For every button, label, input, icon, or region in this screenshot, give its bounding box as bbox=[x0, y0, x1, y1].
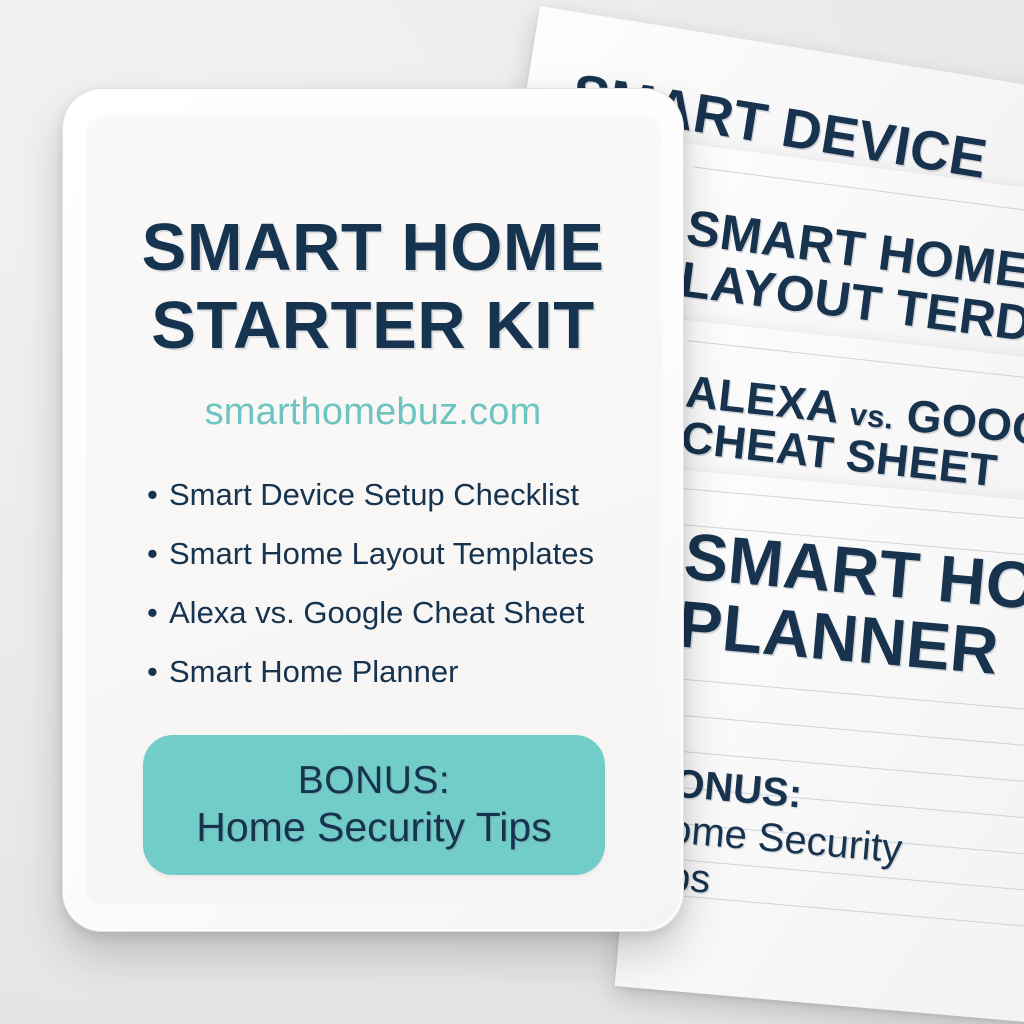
feature-label: Smart Home Layout Templates bbox=[169, 536, 594, 572]
list-item: • Smart Home Planner bbox=[147, 654, 594, 713]
promo-graphic-scene: SMART DEVICE P CHECKLIST SMART HOME LAYO… bbox=[0, 0, 1024, 1024]
tablet-device: SMART HOME STARTER KIT smarthomebuz.com … bbox=[62, 88, 684, 932]
bonus-badge-label: BONUS: bbox=[298, 759, 451, 804]
feature-label: Smart Home Planner bbox=[169, 654, 458, 690]
bonus-badge-text: Home Security Tips bbox=[196, 804, 551, 851]
page-title: SMART HOME STARTER KIT bbox=[85, 209, 661, 366]
list-item: • Alexa vs. Google Cheat Sheet bbox=[147, 595, 594, 654]
feature-list: • Smart Device Setup Checklist • Smart H… bbox=[147, 477, 594, 713]
bullet-icon: • bbox=[147, 656, 169, 687]
bullet-icon: • bbox=[147, 538, 169, 569]
title-line-1: SMART HOME bbox=[85, 209, 661, 287]
list-item: • Smart Home Layout Templates bbox=[147, 536, 594, 595]
site-url-label: smarthomebuz.com bbox=[85, 391, 661, 434]
bullet-icon: • bbox=[147, 479, 169, 510]
list-item: • Smart Device Setup Checklist bbox=[147, 477, 594, 536]
feature-label: Alexa vs. Google Cheat Sheet bbox=[169, 595, 584, 631]
bullet-icon: • bbox=[147, 597, 169, 628]
bonus-badge: BONUS: Home Security Tips bbox=[143, 735, 605, 875]
feature-label: Smart Device Setup Checklist bbox=[169, 477, 579, 513]
title-line-2: STARTER KIT bbox=[85, 287, 661, 365]
tablet-screen: SMART HOME STARTER KIT smarthomebuz.com … bbox=[85, 115, 661, 905]
